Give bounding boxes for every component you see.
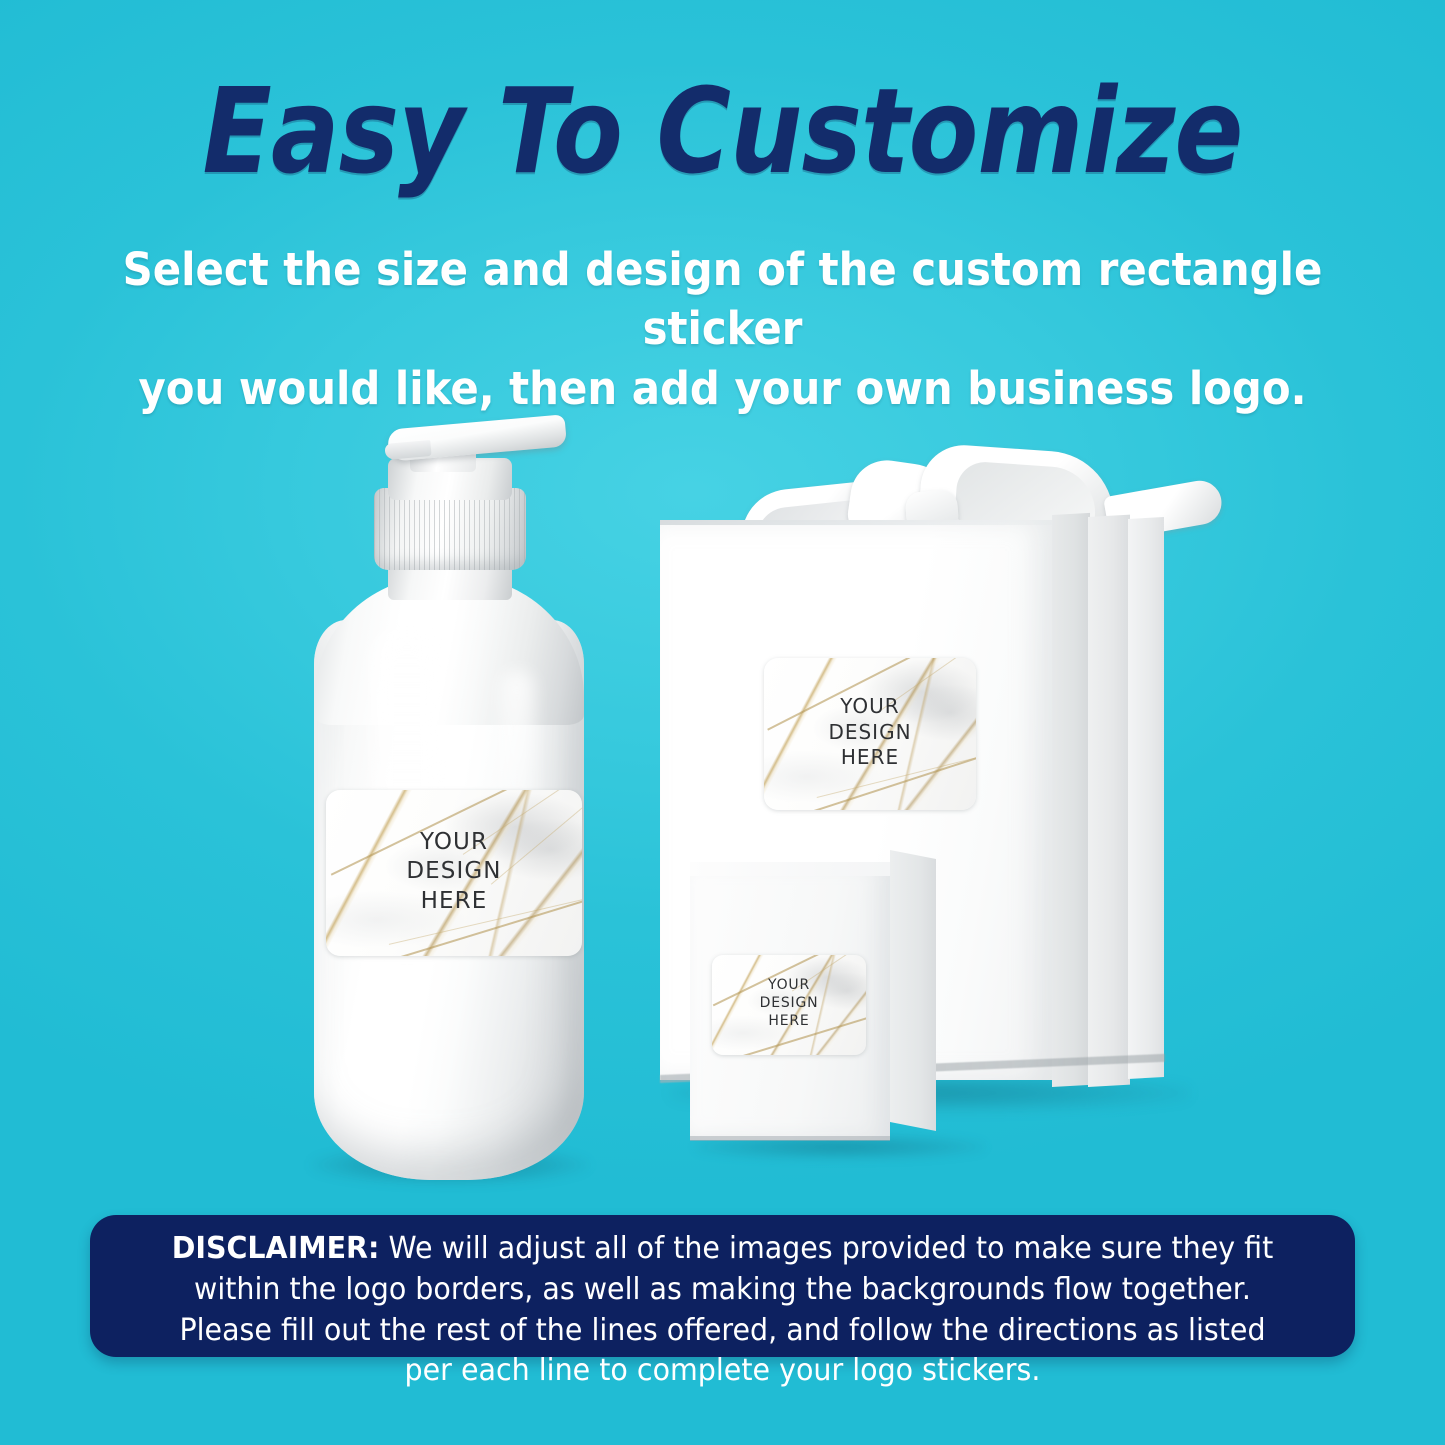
sticker-on-bottle[interactable]: YOUR DESIGN HERE (326, 790, 582, 956)
disclaimer-text: DISCLAIMER: We will adjust all of the im… (154, 1229, 1291, 1392)
gift-box-lid-seam (660, 520, 1052, 525)
subtitle-line-1: Select the size and design of the custom… (116, 240, 1330, 359)
sticker-line-1: YOUR (712, 977, 866, 995)
small-box-side-face (890, 850, 936, 1131)
sticker-line-3: HERE (326, 887, 582, 916)
poster-canvas: Easy To Customize Select the size and de… (0, 0, 1445, 1445)
sticker-placeholder-text: YOUR DESIGN HERE (326, 828, 582, 916)
sticker-line-1: YOUR (326, 828, 582, 857)
pump-collar-ribbed (374, 488, 526, 570)
sticker-line-2: DESIGN (712, 995, 866, 1013)
gift-box-side-panel-2 (1088, 515, 1130, 1087)
sticker-placeholder-text: YOUR DESIGN HERE (712, 977, 866, 1031)
sticker-line-1: YOUR (764, 694, 976, 720)
sticker-line-3: HERE (712, 1013, 866, 1031)
disclaimer-label: DISCLAIMER: (172, 1231, 380, 1266)
sticker-on-gift-box[interactable]: YOUR DESIGN HERE (764, 658, 976, 810)
sticker-line-2: DESIGN (764, 720, 976, 746)
small-box-base-edge (690, 1136, 890, 1141)
gift-box-side-panel-3 (1128, 517, 1164, 1079)
sticker-line-3: HERE (764, 745, 976, 771)
gift-box-side-panel-1 (1052, 513, 1090, 1087)
page-title: Easy To Customize (101, 70, 1344, 194)
disclaimer-banner: DISCLAIMER: We will adjust all of the im… (90, 1215, 1355, 1357)
sticker-on-small-box[interactable]: YOUR DESIGN HERE (712, 955, 866, 1055)
sticker-line-2: DESIGN (326, 857, 582, 886)
product-mockup-group: YOUR DESIGN HERE YOUR DESIGN HERE YOUR D… (0, 390, 1445, 1190)
sticker-placeholder-text: YOUR DESIGN HERE (764, 694, 976, 771)
small-box-top-edge (690, 862, 890, 876)
